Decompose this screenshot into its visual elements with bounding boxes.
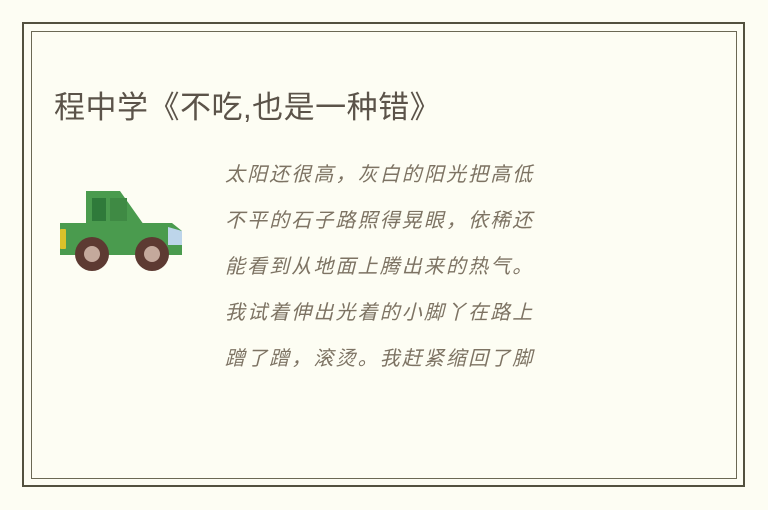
truck-illustration (56, 173, 201, 278)
article-content: 程中学《不吃,也是一种错》 (31, 31, 737, 479)
paragraph-line: 我试着伸出光着的小脚丫在路上 (225, 289, 711, 335)
paragraph-line: 能看到从地面上腾出来的热气。 (225, 243, 711, 289)
paragraph-line: 不平的石子路照得晃眼，依稀还 (225, 197, 711, 243)
green-pickup-truck-icon (56, 173, 201, 278)
page-title: 程中学《不吃,也是一种错》 (54, 85, 704, 131)
paragraph-line: 太阳还很高，灰白的阳光把高低 (225, 151, 711, 197)
paragraph-line: 蹭了蹭，滚烫。我赶紧缩回了脚 (225, 335, 711, 381)
article-body: 太阳还很高，灰白的阳光把高低 不平的石子路照得晃眼，依稀还 能看到从地面上腾出来… (56, 151, 711, 381)
page-canvas: 程中学《不吃,也是一种错》 (0, 0, 768, 510)
article-paragraph: 太阳还很高，灰白的阳光把高低 不平的石子路照得晃眼，依稀还 能看到从地面上腾出来… (225, 151, 711, 381)
